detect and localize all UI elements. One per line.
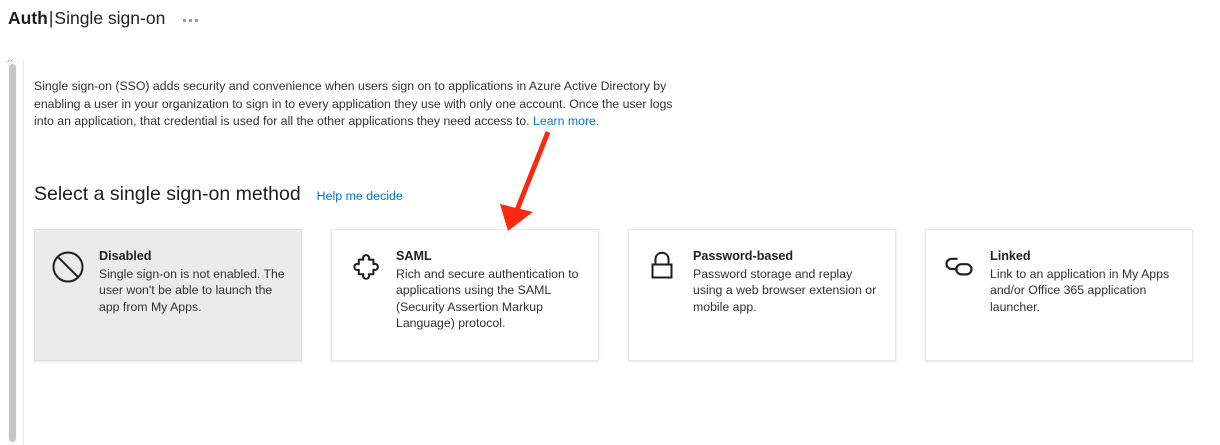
circle-slash-icon [51,248,85,284]
card-body: Password-based Password storage and repl… [693,248,879,360]
card-description: Rich and secure authentication to applic… [396,266,582,332]
more-options-icon[interactable] [179,13,202,28]
sso-method-card-linked[interactable]: Linked Link to an application in My Apps… [925,229,1193,361]
card-description: Password storage and replay using a web … [693,266,879,316]
ellipsis-dot [189,19,192,22]
card-title: Disabled [99,248,285,265]
vertical-scrollbar-thumb[interactable] [9,64,16,442]
sso-method-card-disabled[interactable]: Disabled Single sign-on is not enabled. … [34,229,302,361]
card-description: Single sign-on is not enabled. The user … [99,266,285,316]
card-body: Linked Link to an application in My Apps… [990,248,1176,360]
page-title: Auth|Single sign-on [8,6,165,30]
padlock-icon [645,248,679,284]
card-title: Password-based [693,248,879,265]
main-content: Single sign-on (SSO) adds security and c… [34,78,1204,361]
card-title: Linked [990,248,1176,265]
learn-more-link[interactable]: Learn more. [533,114,599,128]
page-header: Auth|Single sign-on [8,6,202,30]
page-title-app-name: Auth [8,8,48,28]
puzzle-piece-icon [348,248,382,284]
section-title: Select a single sign-on method [34,181,301,207]
page-title-page-name: Single sign-on [54,8,165,28]
sso-method-card-saml[interactable]: SAML Rich and secure authentication to a… [331,229,599,361]
sso-method-card-password-based[interactable]: Password-based Password storage and repl… [628,229,896,361]
ellipsis-dot [195,19,198,22]
card-body: Disabled Single sign-on is not enabled. … [99,248,285,360]
sso-method-card-row: Disabled Single sign-on is not enabled. … [34,229,1204,361]
chain-link-icon [942,248,976,284]
card-body: SAML Rich and secure authentication to a… [396,248,582,360]
intro-paragraph: Single sign-on (SSO) adds security and c… [34,78,679,131]
rail-divider [23,60,24,445]
ellipsis-dot [183,19,186,22]
card-title: SAML [396,248,582,265]
help-me-decide-link[interactable]: Help me decide [317,189,403,203]
card-description: Link to an application in My Apps and/or… [990,266,1176,316]
section-header: Select a single sign-on method Help me d… [34,181,1204,207]
